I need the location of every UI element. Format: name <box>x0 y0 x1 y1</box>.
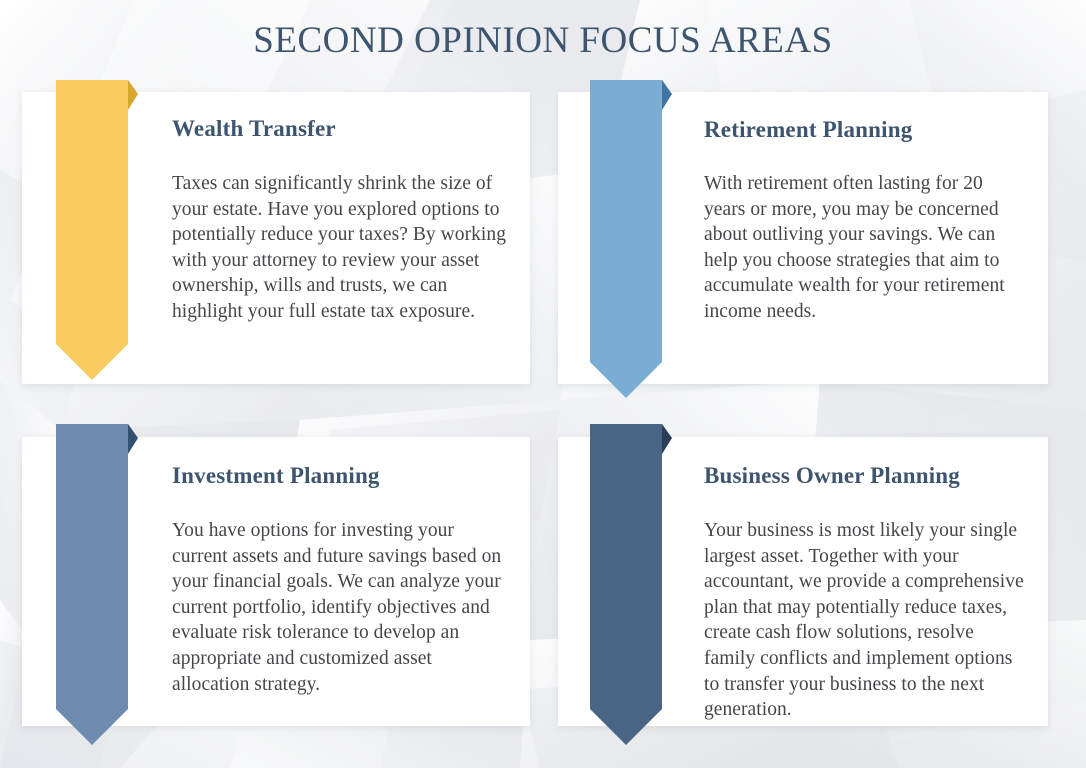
ribbon-banner-icon-wealth-transfer <box>56 80 138 392</box>
card-title-business-owner-planning: Business Owner Planning <box>704 463 960 489</box>
card-body-retirement-planning: With retirement often lasting for 20 yea… <box>704 171 1024 325</box>
card-title-wealth-transfer: Wealth Transfer <box>172 116 336 142</box>
card-body-business-owner-planning: Your business is most likely your single… <box>704 518 1029 723</box>
ribbon-banner-icon-retirement-planning <box>590 80 672 410</box>
ribbon-banner-icon-business-owner-planning <box>590 424 672 754</box>
card-body-investment-planning: You have options for investing your curr… <box>172 518 502 697</box>
card-title-retirement-planning: Retirement Planning <box>704 117 912 143</box>
card-body-wealth-transfer: Taxes can significantly shrink the size … <box>172 171 506 325</box>
infographic-page: SECOND OPINION FOCUS AREAS Wealth Transf… <box>0 0 1086 768</box>
ribbon-banner-icon-investment-planning <box>56 424 138 754</box>
page-title: SECOND OPINION FOCUS AREAS <box>0 16 1086 66</box>
card-title-investment-planning: Investment Planning <box>172 463 380 489</box>
